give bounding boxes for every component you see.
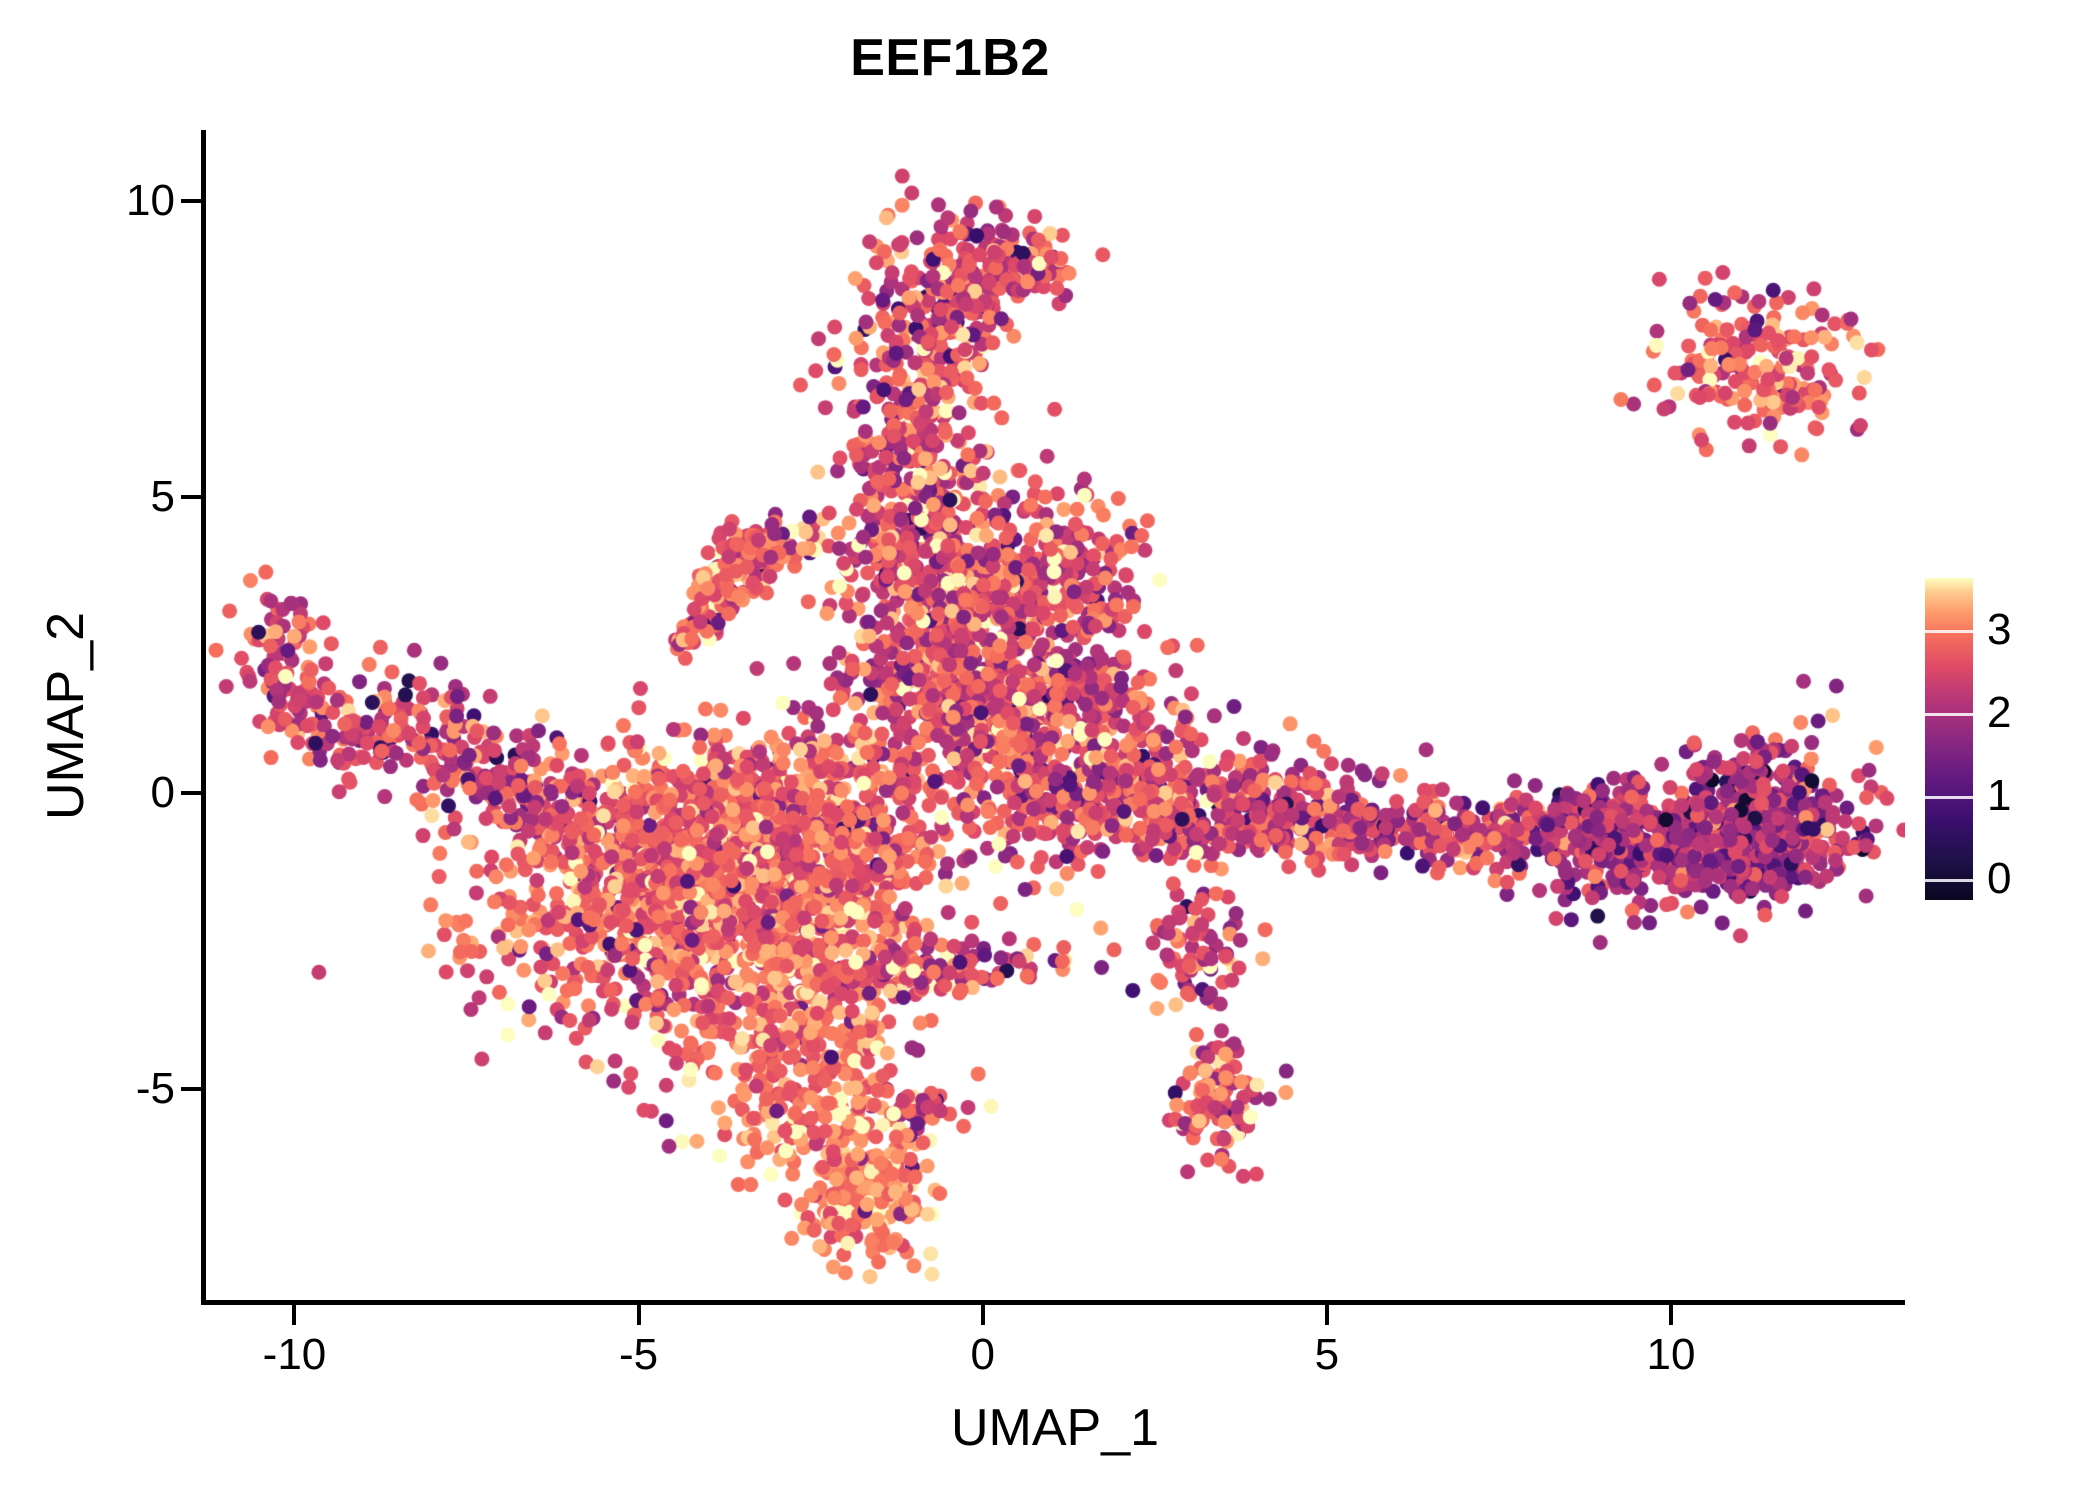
scatter-canvas xyxy=(205,130,1905,1302)
y-tick-mark xyxy=(181,199,201,203)
legend-tick-label: 0 xyxy=(1987,854,2011,904)
color-legend: 0123 xyxy=(1925,578,2075,908)
y-axis-title: UMAP_2 xyxy=(36,130,96,1302)
y-tick-mark xyxy=(181,1087,201,1091)
x-tick-mark xyxy=(1669,1305,1673,1325)
y-tick-label: -5 xyxy=(136,1064,175,1114)
legend-tick-label: 2 xyxy=(1987,688,2011,738)
legend-tick-mark xyxy=(1925,630,1973,633)
y-tick-label: 0 xyxy=(151,768,175,818)
x-tick-label: -10 xyxy=(263,1330,327,1380)
plot-panel xyxy=(205,130,1905,1302)
page-title: EEF1B2 xyxy=(0,28,1900,88)
y-tick-mark xyxy=(181,791,201,795)
y-tick-mark xyxy=(181,495,201,499)
y-tick-label: 5 xyxy=(151,472,175,522)
y-axis-line xyxy=(201,130,206,1305)
umap-feature-plot: EEF1B2 -50510 -10-50510 UMAP_1 UMAP_2 01… xyxy=(0,0,2100,1500)
x-tick-label: 10 xyxy=(1647,1330,1696,1380)
legend-tick-mark xyxy=(1925,713,1973,716)
legend-tick-label: 1 xyxy=(1987,771,2011,821)
x-tick-label: -5 xyxy=(619,1330,658,1380)
x-tick-mark xyxy=(292,1305,296,1325)
x-tick-mark xyxy=(1325,1305,1329,1325)
legend-tick-mark xyxy=(1925,879,1973,882)
y-tick-label: 10 xyxy=(126,176,175,226)
x-tick-label: 5 xyxy=(1315,1330,1339,1380)
legend-colorbar xyxy=(1925,578,1973,900)
x-axis-title: UMAP_1 xyxy=(205,1398,1905,1458)
x-axis-line xyxy=(201,1300,1905,1305)
x-tick-label: 0 xyxy=(970,1330,994,1380)
x-tick-mark xyxy=(981,1305,985,1325)
legend-tick-label: 3 xyxy=(1987,605,2011,655)
x-tick-mark xyxy=(637,1305,641,1325)
legend-tick-mark xyxy=(1925,796,1973,799)
